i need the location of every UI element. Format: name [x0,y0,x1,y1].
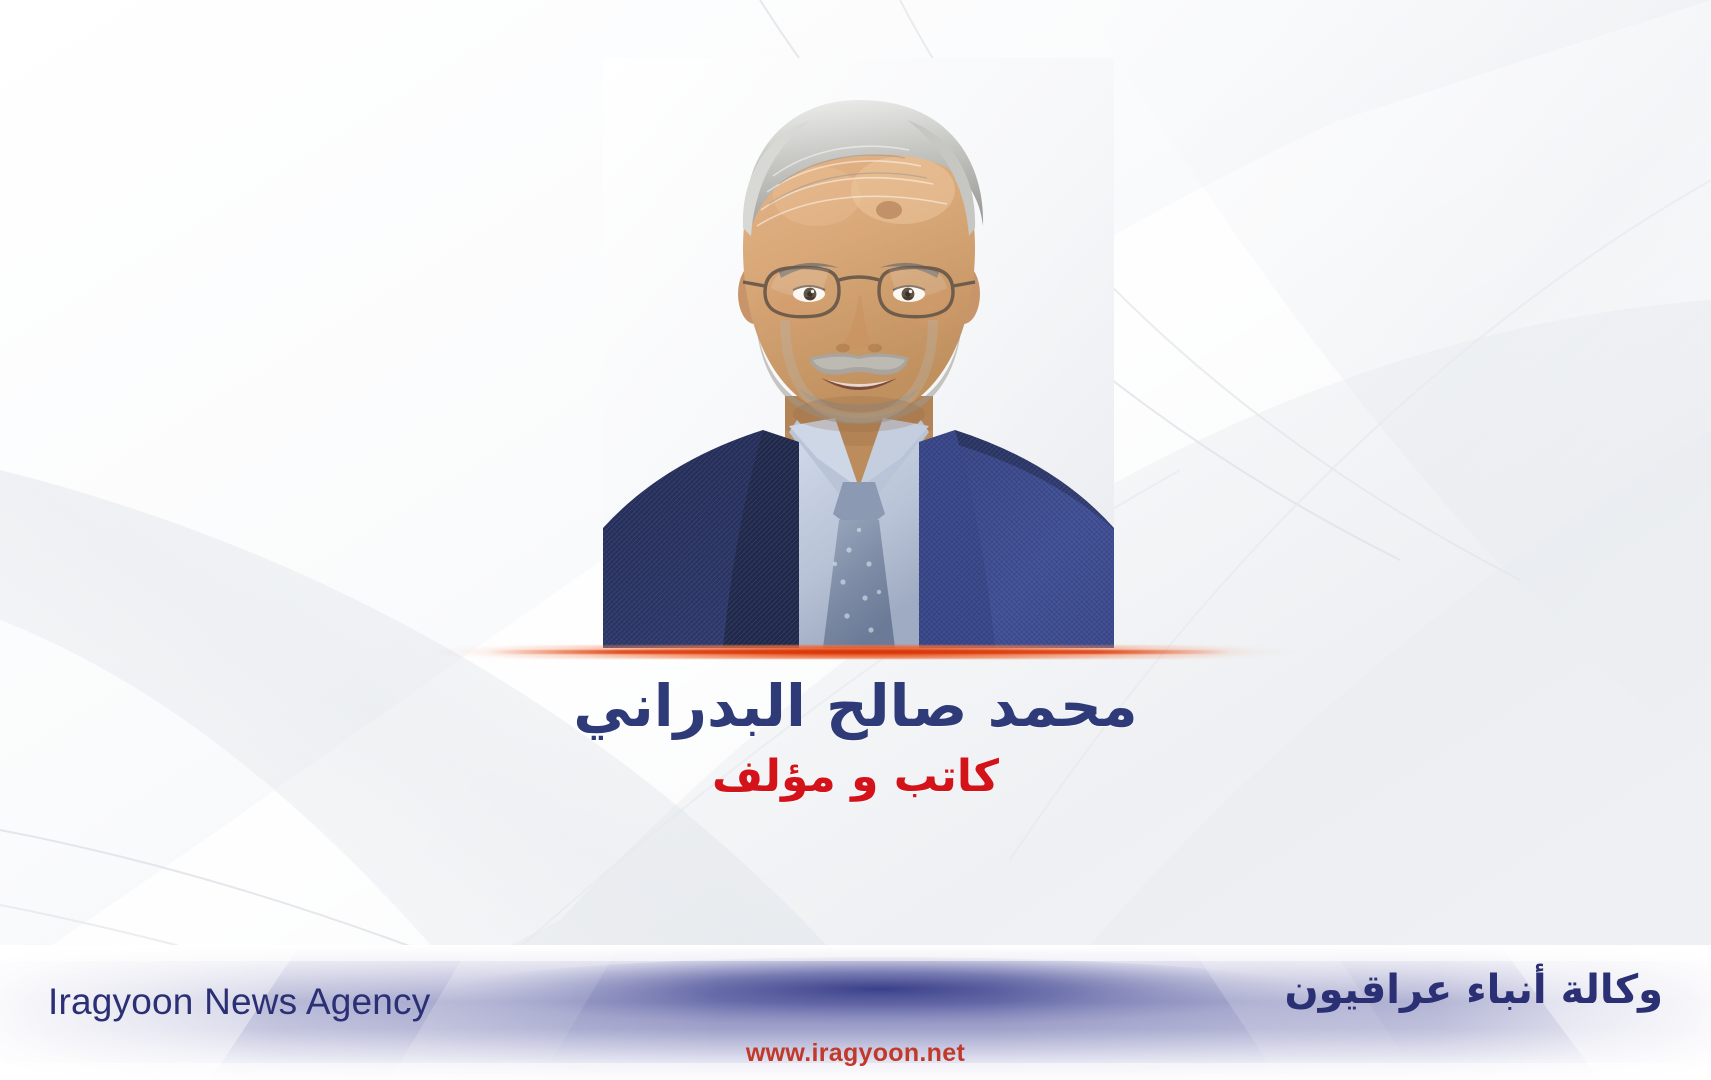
person-role: كاتب و مؤلف [0,748,1711,805]
person-name: محمد صالح البدراني [0,672,1711,740]
portrait-photo [603,58,1114,648]
website-url[interactable]: www.iragyoon.net [0,1039,1711,1068]
bottom-banner: Iragyoon News Agency وكالة أنباء عراقيون… [0,945,1711,1080]
caption-block: محمد صالح البدراني كاتب و مؤلف [0,672,1711,806]
agency-name-english: Iragyoon News Agency [48,981,430,1023]
orange-divider [420,645,1300,659]
agency-name-arabic: وكالة أنباء عراقيون [1285,967,1663,1013]
profile-card: محمد صالح البدراني كاتب و مؤلف [0,0,1711,1080]
